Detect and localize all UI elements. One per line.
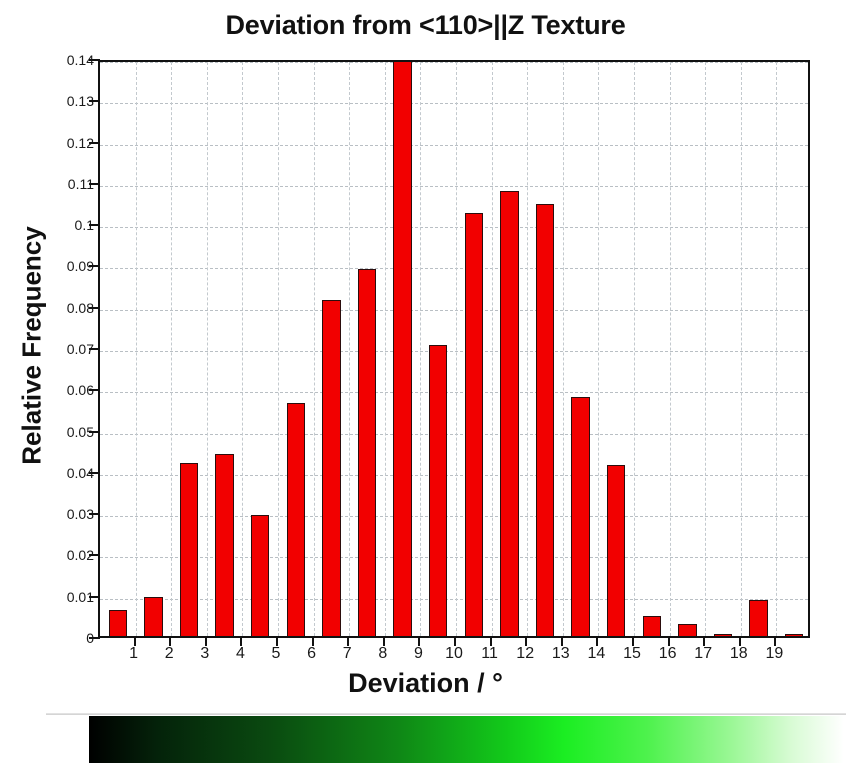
gridline-vertical (278, 62, 279, 636)
gridline-vertical (314, 62, 315, 636)
bar (749, 600, 768, 636)
y-tick-label: 0.05 (42, 424, 94, 440)
bar (287, 403, 306, 636)
gridline-vertical (527, 62, 528, 636)
x-tick-label: 19 (765, 645, 783, 663)
x-tick-label: 15 (623, 645, 641, 663)
bar (465, 213, 484, 636)
y-tick-label: 0 (42, 630, 94, 646)
x-tick-label: 8 (378, 645, 387, 663)
x-tick-label: 17 (694, 645, 712, 663)
bar (215, 454, 234, 636)
gridline-vertical (598, 62, 599, 636)
bar (251, 515, 270, 636)
y-tick-label: 0.03 (42, 506, 94, 522)
chart-title: Deviation from <110>||Z Texture (0, 10, 851, 41)
gridline-vertical (634, 62, 635, 636)
y-tick-label: 0.06 (42, 382, 94, 398)
y-tick-label: 0.1 (42, 217, 94, 233)
bar (144, 597, 163, 636)
y-tick-label: 0.02 (42, 547, 94, 563)
x-tick-label: 5 (272, 645, 281, 663)
plot-area (98, 60, 810, 638)
bar (500, 191, 519, 636)
x-tick-label: 18 (730, 645, 748, 663)
x-tick-label: 16 (659, 645, 677, 663)
bar (714, 634, 733, 636)
colorbar-rule (46, 713, 846, 715)
x-tick-label: 3 (200, 645, 209, 663)
green-intensity-colorbar (89, 716, 844, 763)
bar (678, 624, 697, 636)
gridline-vertical (563, 62, 564, 636)
colorbar-container (0, 700, 851, 769)
x-tick-label: 6 (307, 645, 316, 663)
y-tick-label: 0.11 (42, 176, 94, 192)
x-tick-label: 7 (343, 645, 352, 663)
gridline-vertical (171, 62, 172, 636)
bar (536, 204, 555, 636)
bar (785, 634, 804, 636)
bar (429, 345, 448, 636)
x-tick-label: 9 (414, 645, 423, 663)
y-tick-label: 0.12 (42, 135, 94, 151)
x-tick-label: 1 (129, 645, 138, 663)
y-tick-label: 0.07 (42, 341, 94, 357)
gridline-vertical (420, 62, 421, 636)
y-tick-label: 0.09 (42, 258, 94, 274)
x-tick-label: 13 (552, 645, 570, 663)
gridline-vertical (776, 62, 777, 636)
gridline-vertical (207, 62, 208, 636)
gridline-vertical (242, 62, 243, 636)
gridline-vertical (385, 62, 386, 636)
bar (571, 397, 590, 636)
bar (393, 60, 412, 636)
x-tick-label: 4 (236, 645, 245, 663)
bar (358, 269, 377, 636)
y-tick-label: 0.14 (42, 52, 94, 68)
x-tick-label: 10 (445, 645, 463, 663)
y-tick-label: 0.01 (42, 589, 94, 605)
y-axis-tick-labels: 00.010.020.030.040.050.060.070.080.090.1… (38, 60, 94, 638)
bar (322, 300, 341, 636)
gridline-vertical (741, 62, 742, 636)
chart-figure: Deviation from <110>||Z Texture Relative… (0, 0, 851, 700)
y-tick-label: 0.08 (42, 300, 94, 316)
x-tick-label: 11 (481, 645, 498, 663)
x-tick-label: 12 (516, 645, 534, 663)
bar (607, 465, 626, 636)
bar (643, 616, 662, 636)
gridline-vertical (705, 62, 706, 636)
gridline-vertical (349, 62, 350, 636)
gridline-vertical (456, 62, 457, 636)
gridline-vertical (670, 62, 671, 636)
y-tick-label: 0.04 (42, 465, 94, 481)
x-tick-label: 14 (587, 645, 605, 663)
x-axis-label: Deviation / ° (0, 668, 851, 699)
bar (180, 463, 199, 636)
gridline-vertical (492, 62, 493, 636)
gridline-vertical (136, 62, 137, 636)
x-tick-label: 2 (165, 645, 174, 663)
y-tick-label: 0.13 (42, 93, 94, 109)
bar (109, 610, 128, 636)
